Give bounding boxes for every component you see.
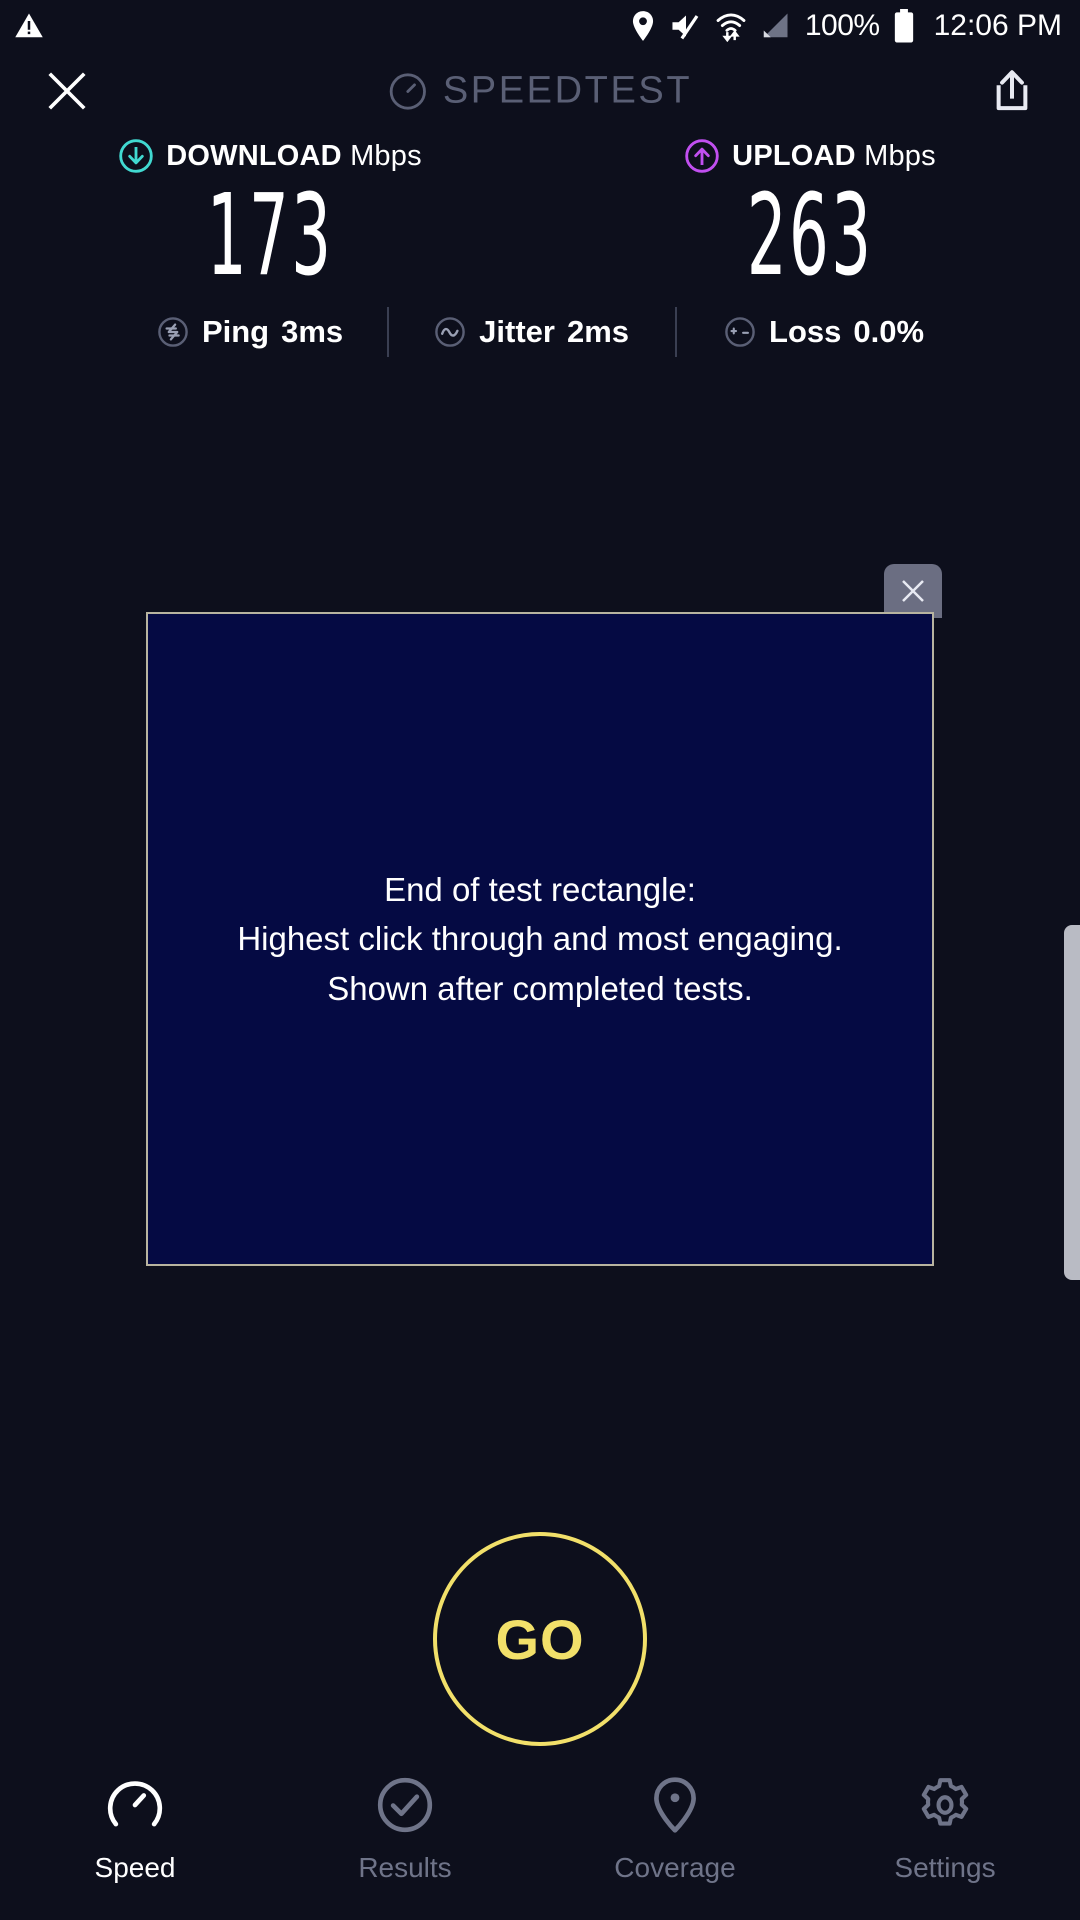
map-pin-icon	[644, 1774, 706, 1836]
go-button[interactable]: GO	[433, 1532, 647, 1746]
upload-result: UPLOAD Mbps 263	[540, 135, 1080, 293]
jitter-name: Jitter	[479, 314, 555, 350]
bottom-navigation: Speed Results Coverage	[0, 1760, 1080, 1920]
cellular-signal-icon	[760, 12, 790, 40]
brand-logo: SPEEDTEST	[388, 70, 692, 113]
speedtest-app-screen: 100% 12:06 PM	[0, 0, 1080, 1920]
jitter-icon	[433, 315, 467, 349]
speedometer-icon	[388, 71, 428, 111]
ping-value: 3ms	[281, 314, 343, 350]
brand-title: SPEEDTEST	[443, 70, 692, 113]
status-bar-left	[14, 11, 44, 41]
nav-label-results: Results	[358, 1852, 451, 1884]
close-button[interactable]	[38, 62, 96, 120]
check-circle-icon	[374, 1774, 436, 1836]
stat-loss: Loss 0.0%	[723, 314, 924, 350]
nav-label-speed: Speed	[95, 1852, 176, 1884]
download-arrow-circle-icon	[118, 138, 154, 174]
loss-value: 0.0%	[853, 314, 924, 350]
share-button[interactable]	[986, 62, 1038, 120]
status-bar-clock: 12:06 PM	[934, 9, 1062, 43]
jitter-value: 2ms	[567, 314, 629, 350]
stat-ping: Ping 3ms	[156, 314, 343, 350]
ad-close-x-icon	[898, 576, 928, 606]
upload-value: 263	[747, 179, 874, 293]
nav-item-results[interactable]: Results	[270, 1774, 540, 1884]
ad-message: End of test rectangle: Highest click thr…	[237, 865, 842, 1014]
speed-values-row: DOWNLOAD Mbps 173 UPLOAD Mbps 263	[0, 135, 1080, 293]
wifi-transfer-icon	[715, 10, 747, 42]
download-value: 173	[207, 179, 334, 293]
location-pin-icon	[629, 10, 657, 42]
loss-icon	[723, 315, 757, 349]
upload-arrow-circle-icon	[684, 138, 720, 174]
nav-item-coverage[interactable]: Coverage	[540, 1774, 810, 1884]
stat-jitter: Jitter 2ms	[433, 314, 629, 350]
ad-close-button[interactable]	[884, 564, 942, 618]
share-upload-icon	[991, 68, 1033, 114]
battery-full-icon	[893, 9, 915, 43]
speedometer-icon	[104, 1774, 166, 1836]
upload-label: UPLOAD Mbps	[732, 140, 936, 173]
warning-triangle-icon	[14, 11, 44, 41]
volume-mute-icon	[670, 11, 702, 41]
ping-icon	[156, 315, 190, 349]
nav-label-coverage: Coverage	[614, 1852, 735, 1884]
close-x-icon	[44, 68, 90, 114]
battery-percent-label: 100%	[805, 9, 880, 43]
advertisement-banner[interactable]: End of test rectangle: Highest click thr…	[146, 612, 934, 1266]
nav-item-speed[interactable]: Speed	[0, 1774, 270, 1884]
app-header: SPEEDTEST	[0, 52, 1080, 130]
nav-label-settings: Settings	[894, 1852, 995, 1884]
nav-item-settings[interactable]: Settings	[810, 1774, 1080, 1884]
go-button-label: GO	[495, 1607, 584, 1672]
page-scrollbar[interactable]	[1064, 925, 1080, 1280]
stats-divider-2	[675, 307, 677, 357]
connection-stats-row: Ping 3ms Jitter 2ms	[0, 307, 1080, 357]
download-label: DOWNLOAD Mbps	[166, 140, 422, 173]
gear-icon	[914, 1774, 976, 1836]
ping-name: Ping	[202, 314, 269, 350]
status-bar-right: 100% 12:06 PM	[629, 9, 1062, 43]
loss-name: Loss	[769, 314, 841, 350]
stats-divider-1	[387, 307, 389, 357]
status-bar: 100% 12:06 PM	[0, 0, 1080, 52]
download-result: DOWNLOAD Mbps 173	[0, 135, 540, 293]
results-panel: DOWNLOAD Mbps 173 UPLOAD Mbps 263	[0, 135, 1080, 357]
